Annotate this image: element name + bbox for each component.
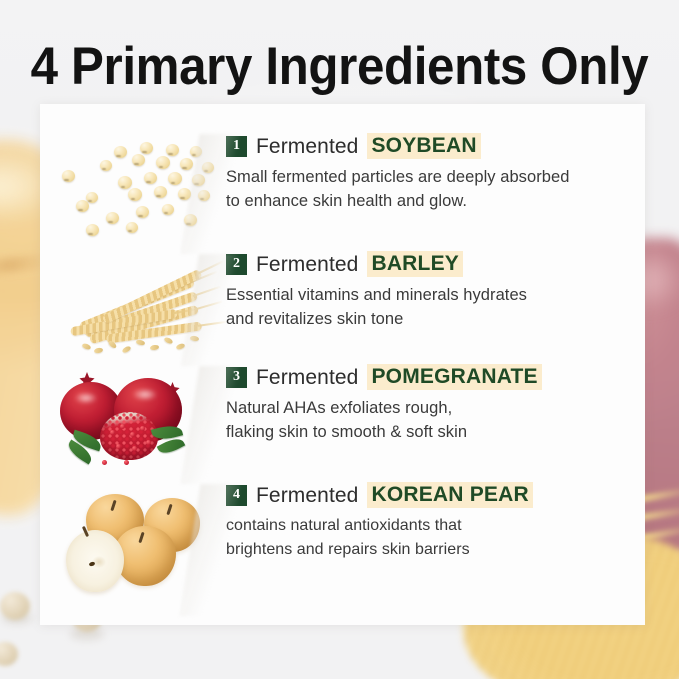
background-soybean	[0, 642, 18, 666]
list-item: 2 Fermented BARLEY Essential vitamins an…	[40, 248, 645, 360]
ingredient-heading: 1 Fermented SOYBEAN	[226, 133, 627, 159]
ingredient-description: contains natural antioxidants that brigh…	[226, 514, 627, 561]
ingredient-name: SOYBEAN	[367, 133, 480, 159]
ingredients-list: 1 Fermented SOYBEAN Small fermented part…	[40, 104, 645, 625]
ingredient-text: 2 Fermented BARLEY Essential vitamins an…	[226, 248, 645, 332]
description-line: brightens and repairs skin barriers	[226, 538, 627, 562]
ingredient-description: Natural AHAs exfoliates rough, flaking s…	[226, 396, 627, 445]
ingredient-description: Small fermented particles are deeply abs…	[226, 165, 627, 214]
product-infographic: 4 Primary Ingredients Only	[0, 0, 679, 679]
background-soybean	[0, 592, 30, 620]
ingredient-heading: 3 Fermented POMEGRANATE	[226, 364, 627, 390]
ingredient-prefix: Fermented	[256, 485, 358, 506]
description-line: Natural AHAs exfoliates rough,	[226, 396, 627, 420]
ingredient-name: BARLEY	[367, 251, 463, 277]
pomegranate-illustration	[40, 360, 226, 478]
ingredient-text: 4 Fermented KOREAN PEAR contains natural…	[226, 478, 645, 561]
description-line: flaking skin to smooth & soft skin	[226, 420, 627, 444]
page-title: 4 Primary Ingredients Only	[24, 36, 655, 97]
ingredient-heading: 4 Fermented KOREAN PEAR	[226, 482, 627, 508]
description-line: to enhance skin health and glow.	[226, 189, 627, 213]
list-item: 3 Fermented POMEGRANATE Natural AHAs exf…	[40, 360, 645, 478]
description-line: contains natural antioxidants that	[226, 514, 627, 538]
description-line: Small fermented particles are deeply abs…	[226, 165, 627, 189]
korean-pear-illustration	[40, 478, 226, 610]
ingredient-text: 3 Fermented POMEGRANATE Natural AHAs exf…	[226, 360, 645, 445]
barley-stalks-illustration	[40, 248, 226, 360]
ingredient-description: Essential vitamins and minerals hydrates…	[226, 283, 627, 332]
ingredients-card: 1 Fermented SOYBEAN Small fermented part…	[40, 104, 645, 625]
description-line: and revitalizes skin tone	[226, 307, 627, 331]
ingredient-heading: 2 Fermented BARLEY	[226, 251, 627, 277]
ingredient-prefix: Fermented	[256, 136, 358, 157]
list-item: 4 Fermented KOREAN PEAR contains natural…	[40, 478, 645, 610]
ingredient-name: KOREAN PEAR	[367, 482, 532, 508]
ingredient-text: 1 Fermented SOYBEAN Small fermented part…	[226, 128, 645, 214]
soybeans-illustration	[40, 128, 226, 248]
ingredient-name: POMEGRANATE	[367, 364, 541, 390]
ingredient-prefix: Fermented	[256, 367, 358, 388]
description-line: Essential vitamins and minerals hydrates	[226, 283, 627, 307]
ingredient-prefix: Fermented	[256, 254, 358, 275]
list-item: 1 Fermented SOYBEAN Small fermented part…	[40, 128, 645, 248]
